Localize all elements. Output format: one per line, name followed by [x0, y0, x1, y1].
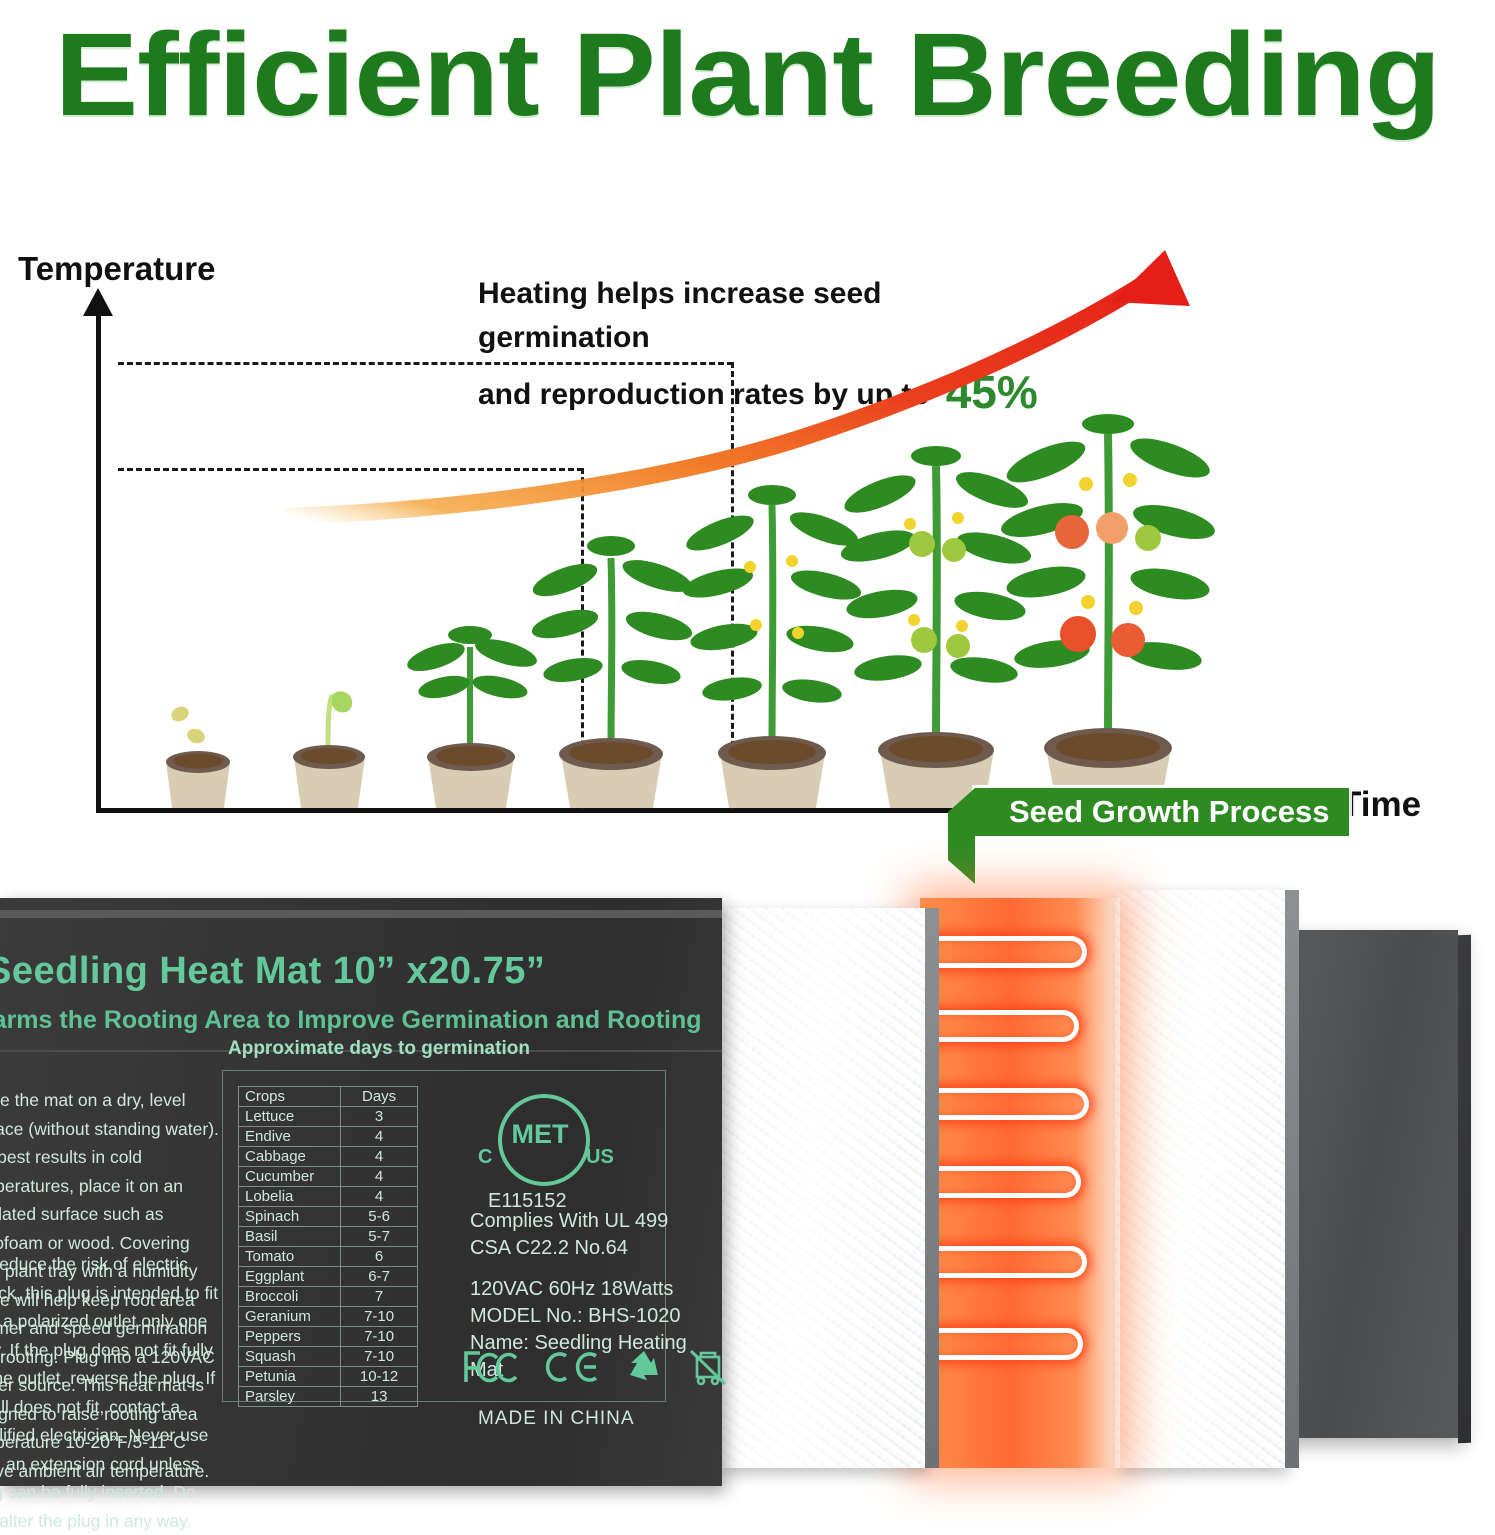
- cell-crop: Cucumber: [239, 1167, 341, 1187]
- cell-days: 4: [341, 1167, 418, 1187]
- table-row: Cabbage4: [239, 1147, 418, 1167]
- cell-days: 7-10: [341, 1327, 418, 1347]
- germination-table: CropsDaysLettuce3Endive4Cabbage4Cucumber…: [238, 1086, 418, 1407]
- cell-days: 5-6: [341, 1207, 418, 1227]
- cell-crop: Lobelia: [239, 1187, 341, 1207]
- growth-stage-sprout: [272, 645, 387, 810]
- board-top-edge: [0, 910, 722, 918]
- callout-line-1: Heating helps increase seed germination: [478, 272, 1038, 359]
- callout-text: Heating helps increase seed germination …: [478, 272, 1038, 426]
- ce-icon: [544, 1350, 600, 1384]
- fcc-icon: [462, 1350, 520, 1384]
- heating-wire-loop: [914, 1166, 1081, 1198]
- met-label: MET: [498, 1119, 582, 1150]
- table-row: Broccoli7: [239, 1287, 418, 1307]
- table-row: Petunia10-12: [239, 1367, 418, 1387]
- layer-insulation-front: [720, 908, 925, 1468]
- cell-crop: Tomato: [239, 1247, 341, 1267]
- table-row: Cucumber4: [239, 1167, 418, 1187]
- growth-temperature-chart: Temperature Time Heating helps increase …: [0, 250, 1495, 870]
- heating-wire-loop: [914, 1088, 1089, 1120]
- seed-growth-process-banner: Seed Growth Process: [975, 788, 1349, 836]
- growth-stage-young-plant: [525, 520, 700, 810]
- heating-wire-loop: [914, 936, 1087, 968]
- germination-table-caption: Approximate days to germination: [228, 1038, 530, 1060]
- table-row: Basil5-7: [239, 1227, 418, 1247]
- y-axis-label: Temperature: [18, 250, 215, 288]
- table-row: Lettuce3: [239, 1107, 418, 1127]
- made-in-label: MADE IN CHINA: [478, 1408, 635, 1430]
- cell-crop: Geranium: [239, 1307, 341, 1327]
- header-crops: Crops: [239, 1087, 341, 1107]
- cell-days: 4: [341, 1147, 418, 1167]
- cell-crop: Basil: [239, 1227, 341, 1247]
- cell-days: 6: [341, 1247, 418, 1267]
- table-row: Parsley13: [239, 1387, 418, 1407]
- cell-days: 7-10: [341, 1307, 418, 1327]
- table-row: Geranium7-10: [239, 1307, 418, 1327]
- cell-crop: Broccoli: [239, 1287, 341, 1307]
- layer-back-plate: [1280, 930, 1458, 1438]
- cell-crop: Lettuce: [239, 1107, 341, 1127]
- table-row: Endive4: [239, 1127, 418, 1147]
- cell-days: 3: [341, 1107, 418, 1127]
- met-us-label: US: [586, 1146, 614, 1169]
- insulation-back-edge: [1285, 890, 1299, 1468]
- cell-days: 4: [341, 1127, 418, 1147]
- heating-wire-loop: [914, 1328, 1083, 1360]
- cell-crop: Petunia: [239, 1367, 341, 1387]
- complies-line-2: CSA C22.2 No.64: [470, 1235, 722, 1262]
- certification-icons: [462, 1348, 728, 1386]
- page-title: Efficient Plant Breeding: [0, 16, 1495, 134]
- cell-days: 5-7: [341, 1227, 418, 1247]
- cell-days: 6-7: [341, 1267, 418, 1287]
- cell-days: 7-10: [341, 1347, 418, 1367]
- product-label-subtitle: Warms the Rooting Area to Improve Germin…: [0, 1006, 702, 1035]
- table-row: Eggplant6-7: [239, 1267, 418, 1287]
- callout-line-2: and reproduction rates by up to: [478, 378, 930, 411]
- y-axis-line: [96, 308, 101, 813]
- header-days: Days: [341, 1087, 418, 1107]
- back-plate-edge: [1458, 935, 1471, 1443]
- callout-line-2-wrap: and reproduction rates by up to45%: [478, 359, 1038, 426]
- banner-label: Seed Growth Process: [1009, 794, 1329, 830]
- growth-stage-ripe-tomatoes: [1000, 410, 1215, 810]
- x-axis-label: Time: [1340, 785, 1421, 825]
- cell-crop: Cabbage: [239, 1147, 341, 1167]
- cell-crop: Endive: [239, 1127, 341, 1147]
- product-label-title: Seedling Heat Mat 10” x20.75”: [0, 950, 545, 993]
- weee-bin-icon: [688, 1348, 728, 1386]
- gridline-lower: [118, 468, 583, 471]
- layer-insulation-back: [1115, 890, 1285, 1468]
- table-header-row: CropsDays: [239, 1087, 418, 1107]
- model-number: MODEL No.: BHS-1020: [470, 1303, 722, 1330]
- product-cross-section: Seedling Heat Mat 10” x20.75” Warms the …: [0, 880, 1495, 1495]
- layer-heating-element: [920, 898, 1120, 1468]
- table-row: Peppers7-10: [239, 1327, 418, 1347]
- cell-crop: Peppers: [239, 1327, 341, 1347]
- recycle-icon: [624, 1349, 664, 1385]
- electrical-rating: 120VAC 60Hz 18Watts: [470, 1276, 722, 1303]
- cell-crop: Squash: [239, 1347, 341, 1367]
- layer-label-board: Seedling Heat Mat 10” x20.75” Warms the …: [0, 898, 722, 1486]
- heating-wire-loop: [914, 1246, 1087, 1278]
- cell-crop: Parsley: [239, 1387, 341, 1407]
- cell-days: 13: [341, 1387, 418, 1407]
- table-row: Tomato6: [239, 1247, 418, 1267]
- insulation-front-edge: [925, 908, 939, 1468]
- cell-days: 4: [341, 1187, 418, 1207]
- table-row: Squash7-10: [239, 1347, 418, 1367]
- growth-stage-seeds: [148, 690, 248, 810]
- polarized-plug-warning: To reduce the risk of electric shock, th…: [0, 1250, 220, 1535]
- cell-days: 7: [341, 1287, 418, 1307]
- table-row: Spinach5-6: [239, 1207, 418, 1227]
- cell-crop: Spinach: [239, 1207, 341, 1227]
- table-row: Lobelia4: [239, 1187, 418, 1207]
- cell-days: 10-12: [341, 1367, 418, 1387]
- complies-line-1: Complies With UL 499: [470, 1208, 722, 1235]
- cell-crop: Eggplant: [239, 1267, 341, 1287]
- met-c-label: C: [478, 1146, 492, 1169]
